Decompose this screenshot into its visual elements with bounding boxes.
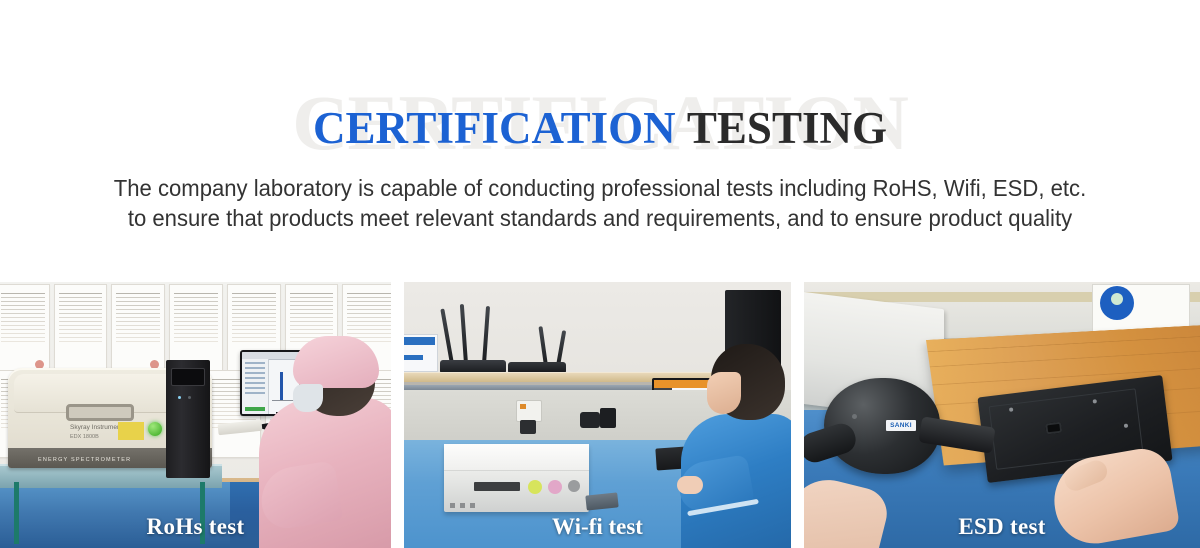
equipment-feet xyxy=(450,503,455,508)
equipment-lid xyxy=(444,444,589,471)
power-adapter xyxy=(580,412,600,428)
subtitle: The company laboratory is capable of con… xyxy=(36,173,1164,233)
gun-brand-label: SANKI xyxy=(886,420,916,431)
power-adapter xyxy=(600,408,616,428)
sign-band xyxy=(404,337,435,345)
photo-esd-test[interactable]: SANKI ESD test xyxy=(804,282,1200,548)
power-outlet xyxy=(516,400,542,422)
vesa-mount-hole xyxy=(1045,422,1062,435)
spectrometer-handle xyxy=(66,404,134,421)
engineer-hand xyxy=(677,476,703,494)
photo-wifi-test[interactable]: Wi-fi test xyxy=(404,282,791,548)
equipment-sign xyxy=(404,334,438,372)
header-section: CERTIFICATION CERTIFICATION TESTING The … xyxy=(0,0,1200,282)
certificate-sheet xyxy=(111,284,165,376)
technician-cap xyxy=(293,336,379,388)
desktop-tower xyxy=(166,360,210,478)
power-plug xyxy=(520,420,536,434)
certification-badge-icon xyxy=(1100,286,1134,320)
photo-caption-esd: ESD test xyxy=(804,514,1200,540)
engineer-face xyxy=(707,372,741,414)
esd-simulator-gun: SANKI xyxy=(804,378,968,470)
photo-caption-rohs: RoHs test xyxy=(0,514,391,540)
equipment-dial-pink xyxy=(548,480,562,494)
drive-slot xyxy=(171,368,205,386)
photo-strip: Skyray Instrument EDX 1800B ENERGY SPECT… xyxy=(0,282,1200,548)
page-title-blue: CERTIFICATION xyxy=(313,103,676,153)
rohs-scene: Skyray Instrument EDX 1800B ENERGY SPECT… xyxy=(0,282,391,548)
equipment-slot xyxy=(474,482,520,491)
badge-glyph-icon xyxy=(1111,293,1123,305)
certificate-sheet xyxy=(0,284,50,376)
instrument-model-label: EDX 1800B xyxy=(70,434,99,440)
photo-rohs-test[interactable]: Skyray Instrument EDX 1800B ENERGY SPECT… xyxy=(0,282,391,548)
photo-caption-wifi: Wi-fi test xyxy=(404,514,791,540)
sign-band xyxy=(404,355,423,360)
page-title-dark: TESTING xyxy=(687,103,887,153)
wood-grain xyxy=(928,335,1200,352)
face-mask xyxy=(293,384,323,412)
equipment-knob xyxy=(568,480,580,492)
power-indicator-icon xyxy=(148,422,162,436)
subtitle-line-1: The company laboratory is capable of con… xyxy=(36,173,1164,203)
equipment-dial-green xyxy=(528,480,542,494)
certificate-sheet xyxy=(54,284,108,376)
instrument-brand-label: Skyray Instrument xyxy=(70,424,122,431)
wifi-scene xyxy=(404,282,791,548)
power-led-icon xyxy=(178,396,181,399)
page-title: CERTIFICATION TESTING xyxy=(0,106,1200,151)
subtitle-line-2: to ensure that products meet relevant st… xyxy=(36,203,1164,233)
esd-scene: SANKI xyxy=(804,282,1200,548)
instrument-band-label: ENERGY SPECTROMETER xyxy=(38,457,131,463)
outlet-led-icon xyxy=(520,404,526,409)
title-zone: CERTIFICATION CERTIFICATION TESTING xyxy=(0,0,1200,165)
warning-sticker xyxy=(118,422,144,440)
gun-screw xyxy=(852,414,857,419)
rf-test-equipment xyxy=(444,444,589,512)
